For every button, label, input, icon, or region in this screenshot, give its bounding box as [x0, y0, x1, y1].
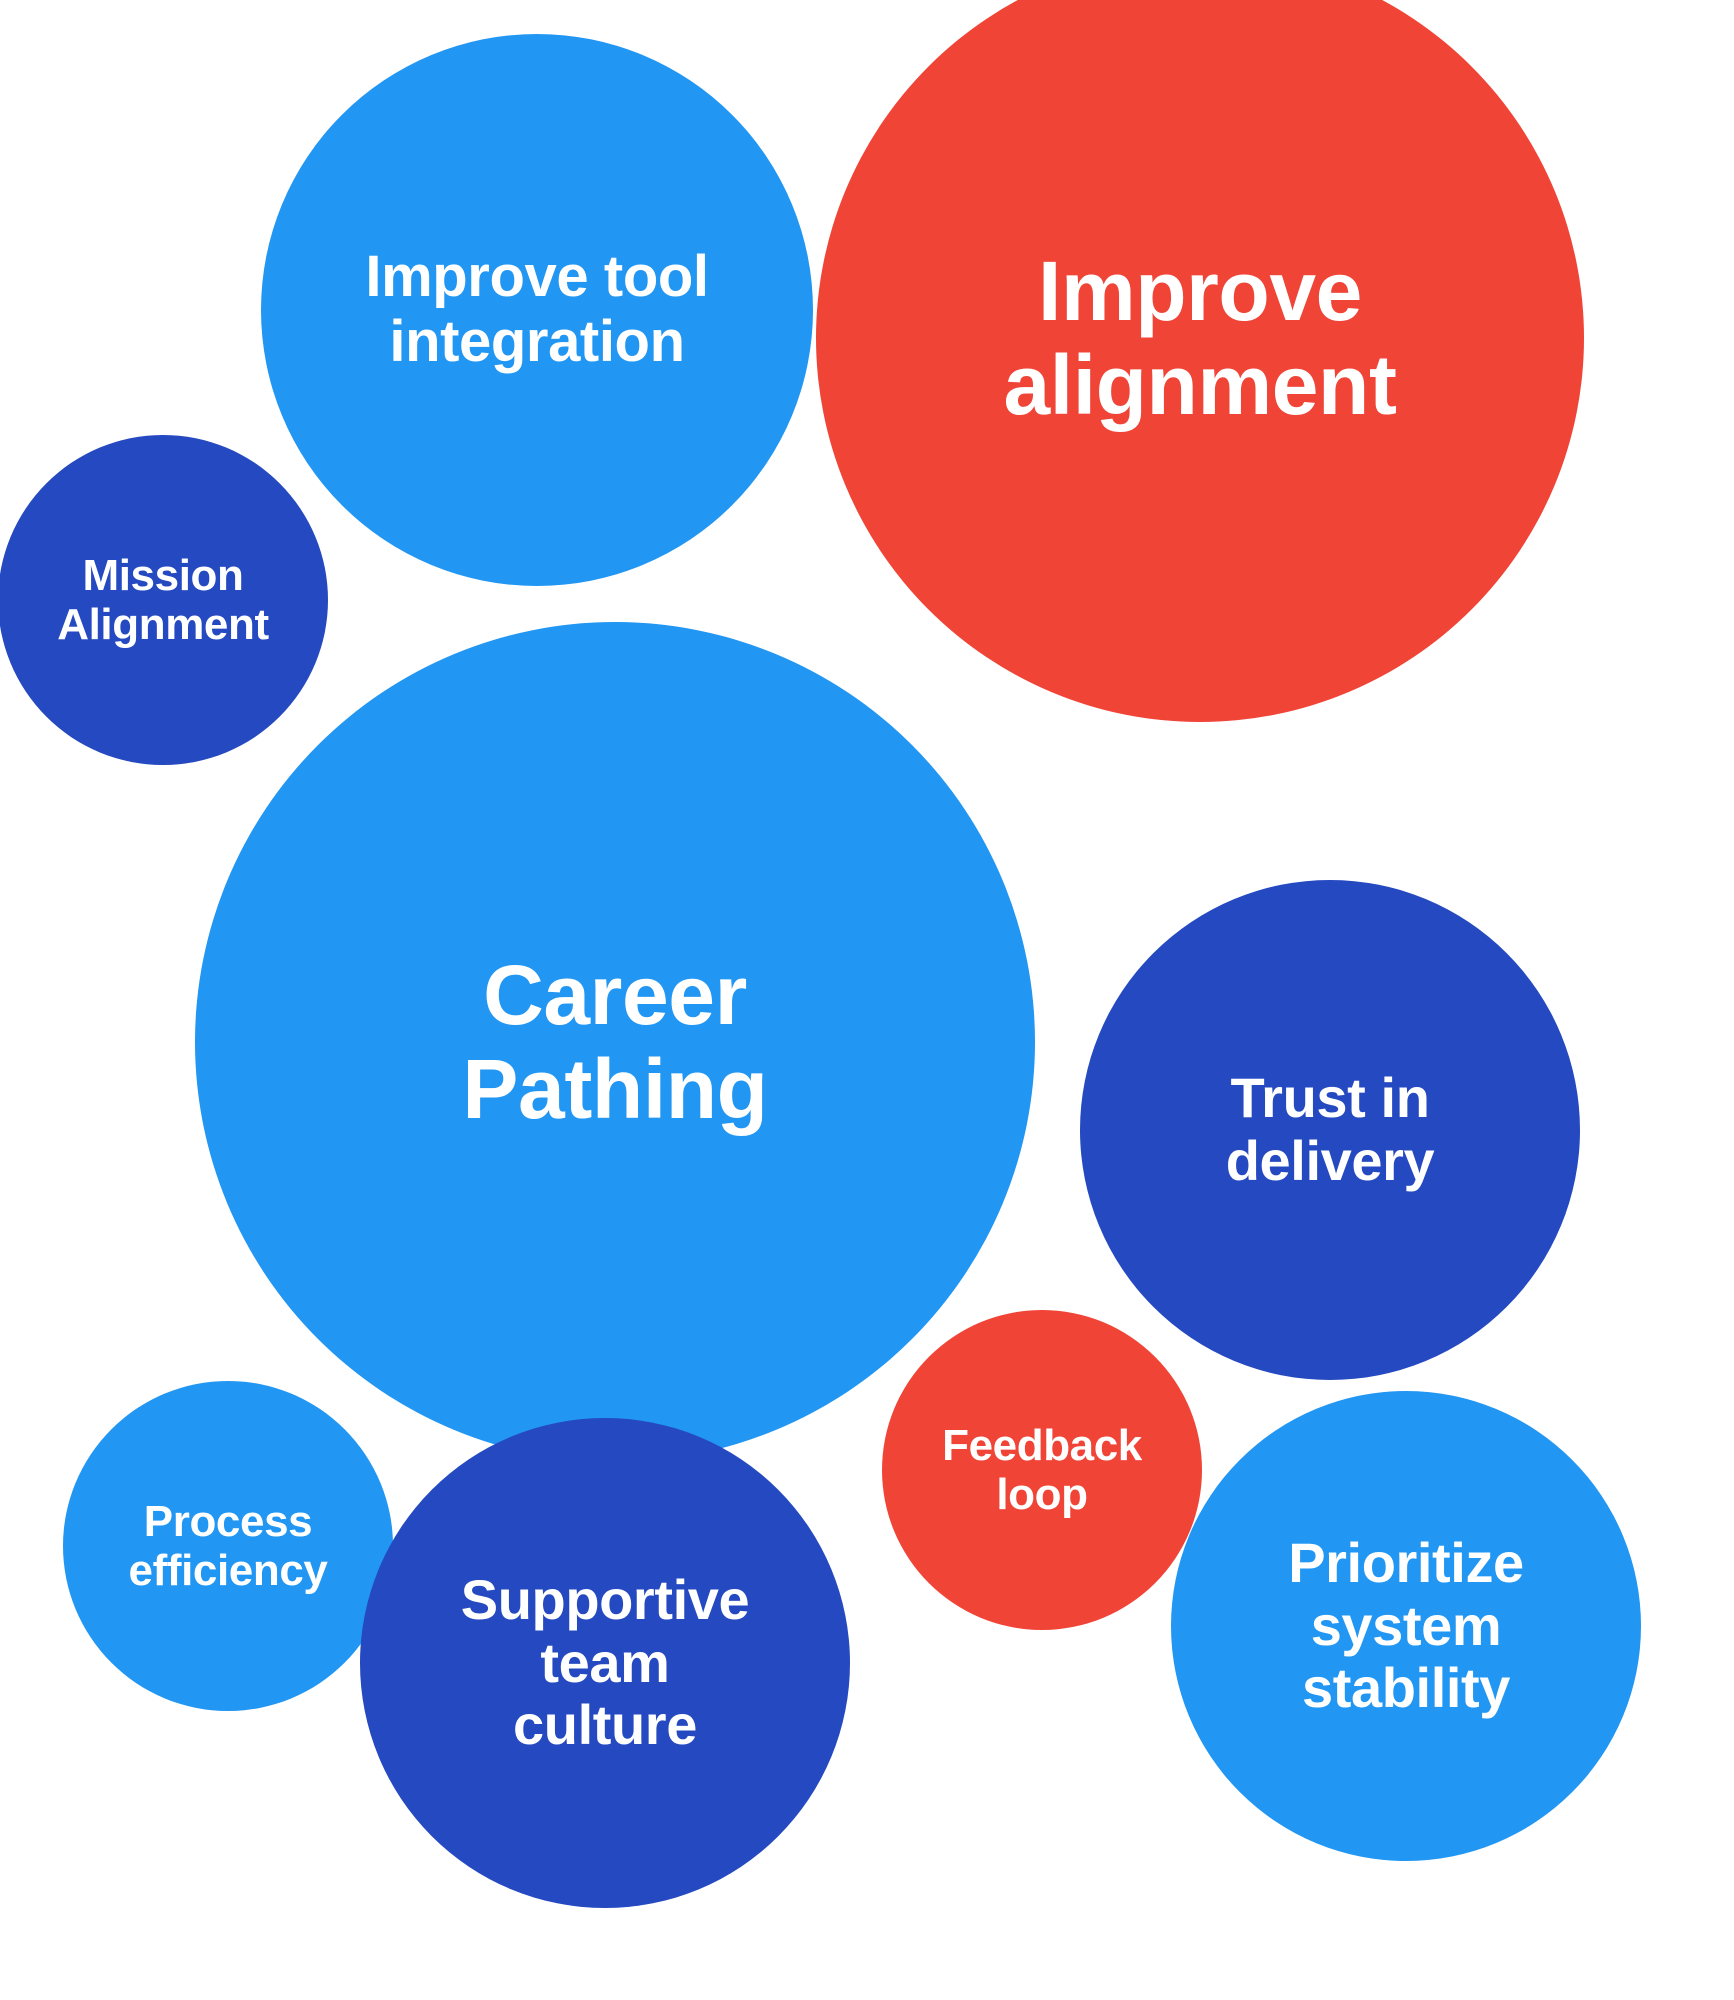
bubble-mission-alignment[interactable]: Mission Alignment — [0, 435, 328, 765]
bubble-improve-tool-integration[interactable]: Improve tool integration — [261, 34, 813, 586]
bubble-prioritize-system-stability[interactable]: Prioritize system stability — [1171, 1391, 1641, 1861]
bubble-career-pathing[interactable]: Career Pathing — [195, 622, 1035, 1462]
bubble-label-trust-in-delivery: Trust in delivery — [1196, 1067, 1465, 1192]
bubble-label-mission-alignment: Mission Alignment — [37, 551, 288, 650]
bubble-supportive-team-culture[interactable]: Supportive team culture — [360, 1418, 850, 1908]
bubble-label-process-efficiency: Process efficiency — [109, 1497, 348, 1596]
bubble-chart-canvas: Improve tool integrationMission Alignmen… — [0, 0, 1734, 2000]
bubble-label-prioritize-system-stability: Prioritize system stability — [1260, 1532, 1552, 1720]
bubble-label-feedback-loop: Feedback loop — [923, 1421, 1161, 1520]
bubble-label-career-pathing: Career Pathing — [412, 948, 818, 1136]
bubble-improve-alignment[interactable]: Improve alignment — [816, 0, 1584, 722]
bubble-label-supportive-team-culture: Supportive team culture — [431, 1569, 778, 1757]
bubble-label-improve-alignment: Improve alignment — [957, 244, 1442, 432]
bubble-label-improve-tool-integration: Improve tool integration — [332, 245, 741, 375]
bubble-process-efficiency[interactable]: Process efficiency — [63, 1381, 393, 1711]
bubble-feedback-loop[interactable]: Feedback loop — [882, 1310, 1202, 1630]
bubble-trust-in-delivery[interactable]: Trust in delivery — [1080, 880, 1580, 1380]
